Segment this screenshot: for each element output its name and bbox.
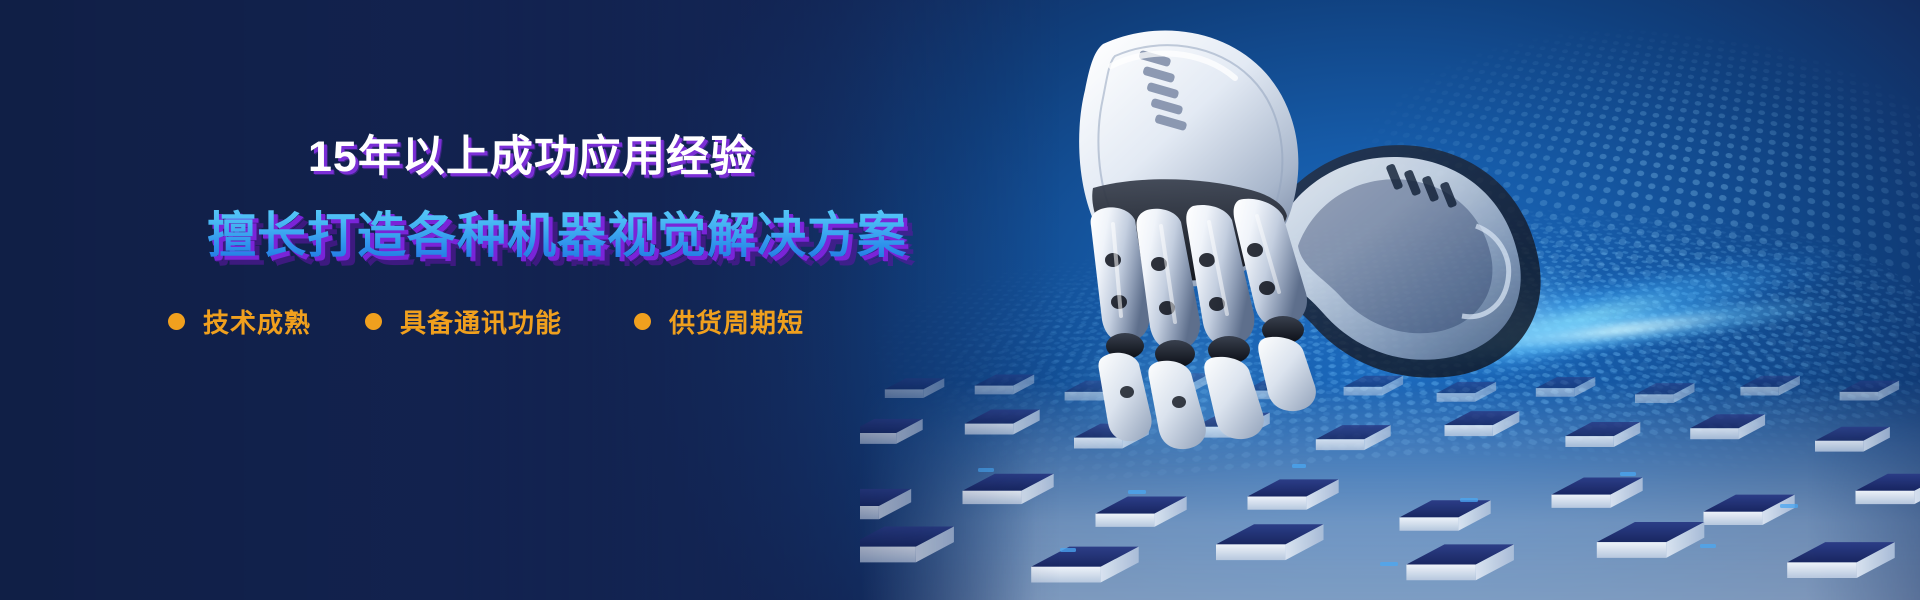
page-subtitle: 擅长打造各种机器视觉解决方案	[207, 196, 907, 267]
banner-content: 15年以上成功应用经验 擅长打造各种机器视觉解决方案 技术成熟 具备通讯功能 供…	[0, 0, 1000, 600]
bullet-dot-icon	[365, 313, 382, 330]
feature-item-3: 供货周期短	[634, 303, 804, 340]
feature-label-2: 具备通讯功能	[400, 303, 562, 340]
bullet-dot-icon	[634, 313, 651, 330]
bullet-dot-icon	[168, 313, 185, 330]
feature-label-3: 供货周期短	[669, 303, 804, 340]
feature-list: 技术成熟 具备通讯功能 供货周期短	[168, 303, 804, 340]
page-title: 15年以上成功应用经验	[308, 122, 754, 184]
hero-banner: 15年以上成功应用经验 擅长打造各种机器视觉解决方案 技术成熟 具备通讯功能 供…	[0, 0, 1920, 600]
feature-label-1: 技术成熟	[203, 303, 311, 340]
robot-hand-icon	[985, 10, 1405, 450]
feature-item-1: 技术成熟	[168, 303, 311, 340]
feature-item-2: 具备通讯功能	[365, 303, 562, 340]
